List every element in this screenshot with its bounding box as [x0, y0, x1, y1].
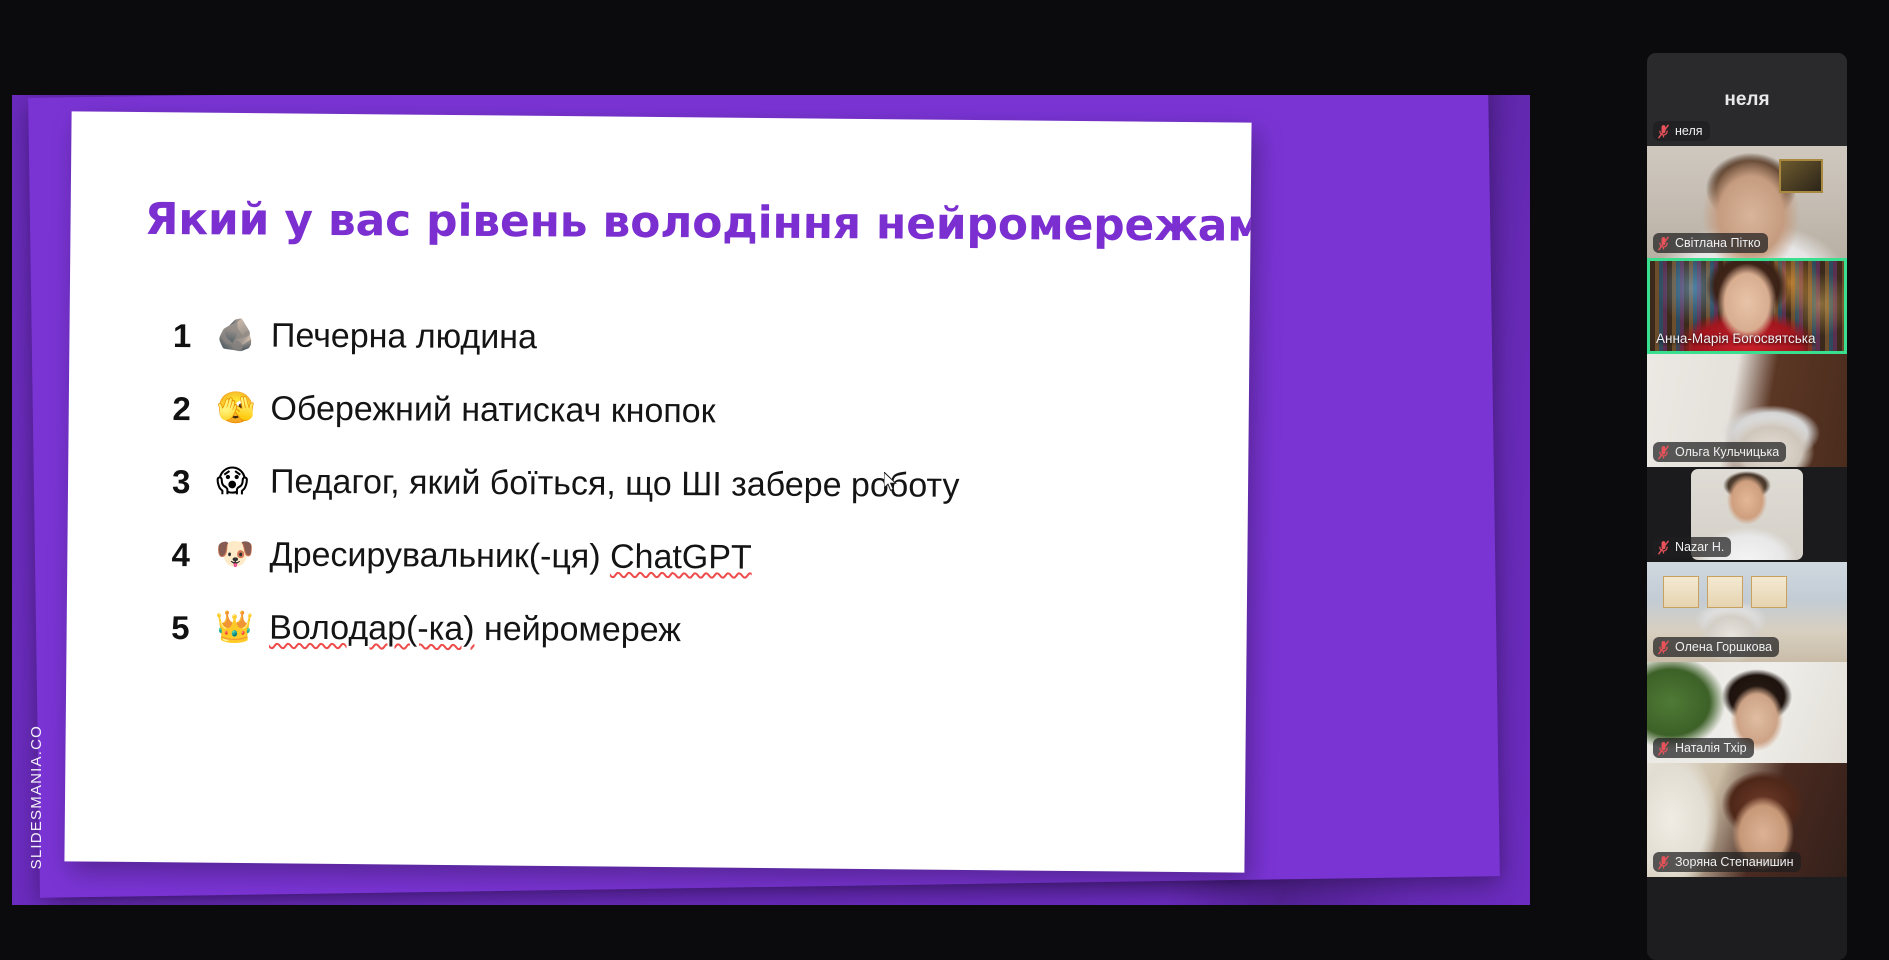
mic-muted-icon	[1657, 445, 1670, 460]
mic-muted-icon	[1657, 540, 1670, 555]
participant-name-badge: неля	[1653, 121, 1710, 141]
participant-tile[interactable]: Зоряна Степанишин	[1647, 763, 1847, 877]
participant-display-name: неля	[1724, 89, 1769, 111]
option-label: Педагог, який боїться, що ШІ забере робо…	[270, 464, 960, 504]
dog-face-emoji: 🐶	[216, 539, 270, 570]
screaming-face-emoji: 😱	[216, 466, 270, 497]
participant-tile[interactable]: Наталія Тхір	[1647, 662, 1847, 763]
participant-name-label: Анна-Марія Богосвятська	[1656, 332, 1816, 346]
rock-emoji: 🪨	[217, 320, 271, 351]
participant-name-label: Світлана Пітко	[1675, 236, 1761, 250]
option-number: 5	[171, 611, 215, 644]
participant-name-badge: Світлана Пітко	[1653, 233, 1768, 253]
participant-tile-active-speaker[interactable]: Анна-Марія Богосвятська	[1647, 258, 1847, 354]
slide-option-row: 4 🐶 Дресирувальник(-ця) ChatGPT	[171, 518, 1211, 597]
participant-filmstrip[interactable]: неля неля Світла	[1647, 53, 1847, 960]
participant-name-label: неля	[1675, 124, 1703, 138]
option-number: 2	[172, 392, 216, 425]
slide-option-row: 5 👑 Володар(-ка) нейромереж	[171, 591, 1211, 670]
option-number: 3	[172, 465, 216, 498]
participant-name-label: Олена Горшкова	[1675, 640, 1772, 654]
mic-muted-icon	[1657, 236, 1670, 251]
option-number: 4	[172, 538, 216, 571]
slidesmania-watermark: SLIDESMANIA.CO	[28, 725, 45, 869]
option-label: Володар(-ка) нейромереж	[269, 610, 681, 648]
shared-screen-stage[interactable]: Який у вас рівень володіння нейромережам…	[12, 95, 1530, 905]
mic-muted-icon	[1657, 124, 1670, 139]
misspelled-word: Володар(-ка)	[269, 608, 475, 647]
participant-tile[interactable]: Ольга Кульчицька	[1647, 354, 1847, 467]
option-label-text: нейромереж	[474, 610, 681, 649]
participant-name-label: Наталія Тхір	[1675, 741, 1747, 755]
slide-option-row: 1 🪨 Печерна людина	[173, 299, 1213, 378]
option-label: Обережний натискач кнопок	[270, 391, 715, 429]
option-number: 1	[173, 319, 217, 352]
option-label: Дресирувальник(-ця) ChatGPT	[269, 537, 751, 576]
participant-name-badge: Наталія Тхір	[1653, 738, 1754, 758]
option-label: Печерна людина	[271, 318, 537, 355]
participant-name-label: Nazar H.	[1675, 540, 1724, 554]
meeting-screen-share-view: Який у вас рівень володіння нейромережам…	[0, 0, 1889, 960]
mic-muted-icon	[1657, 640, 1670, 655]
slide-card: Який у вас рівень володіння нейромережам…	[64, 111, 1251, 872]
participant-name-label: Зоряна Степанишин	[1675, 855, 1794, 869]
mic-muted-icon	[1657, 855, 1670, 870]
participant-name-badge: Олена Горшкова	[1653, 637, 1779, 657]
participant-name-label: Ольга Кульчицька	[1675, 445, 1779, 459]
participant-tile[interactable]: неля неля	[1647, 53, 1847, 146]
option-label-text: Дресирувальник(-ця)	[269, 535, 610, 575]
mic-muted-icon	[1657, 741, 1670, 756]
participant-name-badge: Анна-Марія Богосвятська	[1653, 329, 1823, 349]
slide-title: Який у вас рівень володіння нейромережам…	[145, 194, 1215, 252]
participant-name-badge: Зоряна Степанишин	[1653, 852, 1801, 872]
crown-emoji: 👑	[215, 612, 269, 643]
participant-name-badge: Nazar H.	[1653, 537, 1731, 557]
slide-option-row: 3 😱 Педагог, який боїться, що ШІ забере …	[172, 445, 1212, 524]
slide-options-list: 1 🪨 Печерна людина 2 🫣 Обережний натиска…	[171, 299, 1213, 670]
participant-name-badge: Ольга Кульчицька	[1653, 442, 1786, 462]
misspelled-word: ChatGPT	[610, 537, 752, 576]
participant-tile[interactable]: Світлана Пітко	[1647, 146, 1847, 258]
participant-tile[interactable]: Олена Горшкова	[1647, 562, 1847, 662]
slide-option-row: 2 🫣 Обережний натискач кнопок	[172, 372, 1212, 451]
peeking-face-emoji: 🫣	[216, 393, 270, 424]
participant-tile[interactable]: Nazar H.	[1647, 467, 1847, 562]
